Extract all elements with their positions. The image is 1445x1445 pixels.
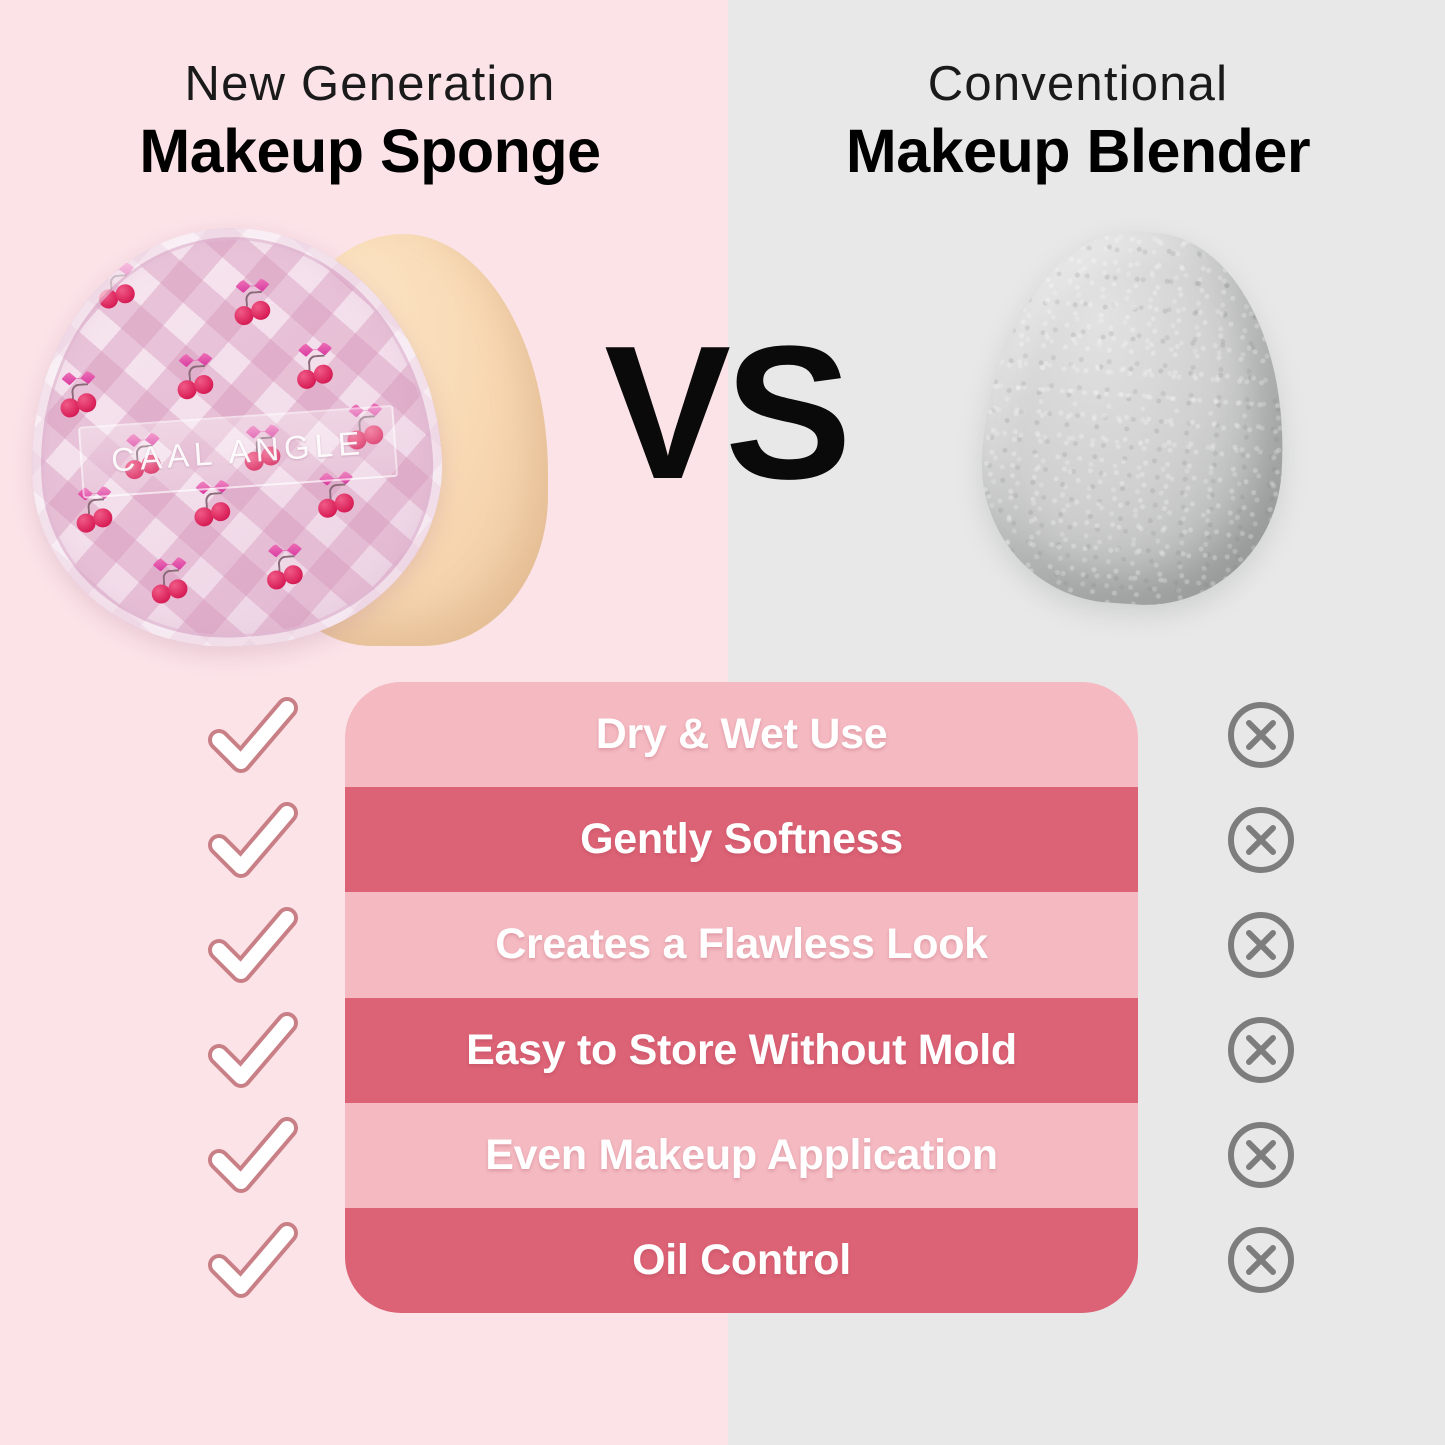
feature-label: Gently Softness <box>580 815 903 864</box>
product-comparison-infographic: New Generation Makeup Sponge Conventiona… <box>0 0 1445 1445</box>
table-row: Creates a Flawless Look <box>345 892 1138 997</box>
check-icon <box>205 692 301 778</box>
right-panel-heading: Conventional Makeup Blender <box>748 60 1408 182</box>
list-item <box>1186 1103 1336 1208</box>
list-item <box>1186 1208 1336 1313</box>
feature-label: Creates a Flawless Look <box>495 920 988 969</box>
table-row: Easy to Store Without Mold <box>345 998 1138 1103</box>
left-heading-kicker: New Generation <box>40 60 700 110</box>
feature-label: Even Makeup Application <box>485 1131 997 1180</box>
circle-x-icon <box>1225 1224 1297 1296</box>
list-item <box>1186 892 1336 997</box>
circle-x-icon <box>1225 699 1297 771</box>
table-row: Dry & Wet Use <box>345 682 1138 787</box>
right-heading-kicker: Conventional <box>748 60 1408 110</box>
list-item <box>178 682 328 787</box>
circle-x-icon <box>1225 1119 1297 1191</box>
list-item <box>1186 787 1336 892</box>
circle-x-icon <box>1225 804 1297 876</box>
feature-label: Dry & Wet Use <box>596 710 888 759</box>
check-icon <box>205 902 301 988</box>
table-row: Even Makeup Application <box>345 1103 1138 1208</box>
left-heading-title: Makeup Sponge <box>40 120 700 182</box>
check-icon <box>205 1217 301 1303</box>
check-icon <box>205 1112 301 1198</box>
circle-x-icon <box>1225 1014 1297 1086</box>
powder-puff-product-image: CAAL ANGLE <box>22 222 542 670</box>
feature-comparison-card: Dry & Wet Use Gently Softness Creates a … <box>345 682 1138 1313</box>
versus-label: VS <box>560 318 890 508</box>
cross-marks-column <box>1186 682 1336 1313</box>
list-item <box>178 787 328 892</box>
right-heading-title: Makeup Blender <box>748 120 1408 182</box>
list-item <box>1186 682 1336 787</box>
table-row: Gently Softness <box>345 787 1138 892</box>
feature-label: Oil Control <box>632 1236 851 1285</box>
list-item <box>178 1103 328 1208</box>
list-item <box>178 892 328 997</box>
check-icon <box>205 1007 301 1093</box>
feature-label: Easy to Store Without Mold <box>466 1026 1017 1075</box>
check-marks-column <box>178 682 328 1313</box>
left-panel-heading: New Generation Makeup Sponge <box>40 60 700 182</box>
list-item <box>178 1208 328 1313</box>
circle-x-icon <box>1225 909 1297 981</box>
check-icon <box>205 797 301 883</box>
table-row: Oil Control <box>345 1208 1138 1313</box>
list-item <box>178 998 328 1103</box>
list-item <box>1186 998 1336 1103</box>
